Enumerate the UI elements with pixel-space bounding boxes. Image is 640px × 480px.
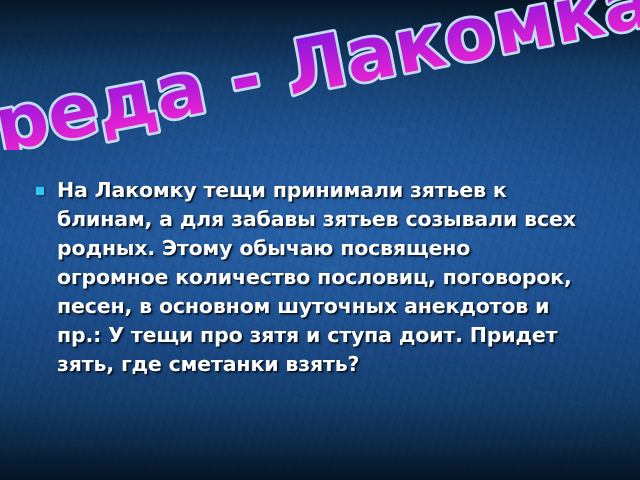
wordart-outline-layer: Среда - Лакомка xyxy=(0,0,640,150)
presentation-slide: Среда - Лакомка Среда - Лакомка Среда - … xyxy=(0,0,640,480)
background-top-band xyxy=(0,0,640,34)
slide-body: На Лакомку тещи принимали зятьев к блина… xyxy=(36,176,612,379)
slide-title-wordart: Среда - Лакомка Среда - Лакомка Среда - … xyxy=(0,0,640,150)
square-bullet-icon xyxy=(36,187,44,195)
wordart-fill-layer: Среда - Лакомка xyxy=(0,0,640,150)
body-paragraph: На Лакомку тещи принимали зятьев к блина… xyxy=(57,176,585,379)
wordart-shadow-layer: Среда - Лакомка xyxy=(0,0,640,150)
list-item: На Лакомку тещи принимали зятьев к блина… xyxy=(36,176,612,379)
wordart-svg: Среда - Лакомка Среда - Лакомка Среда - … xyxy=(0,0,640,150)
